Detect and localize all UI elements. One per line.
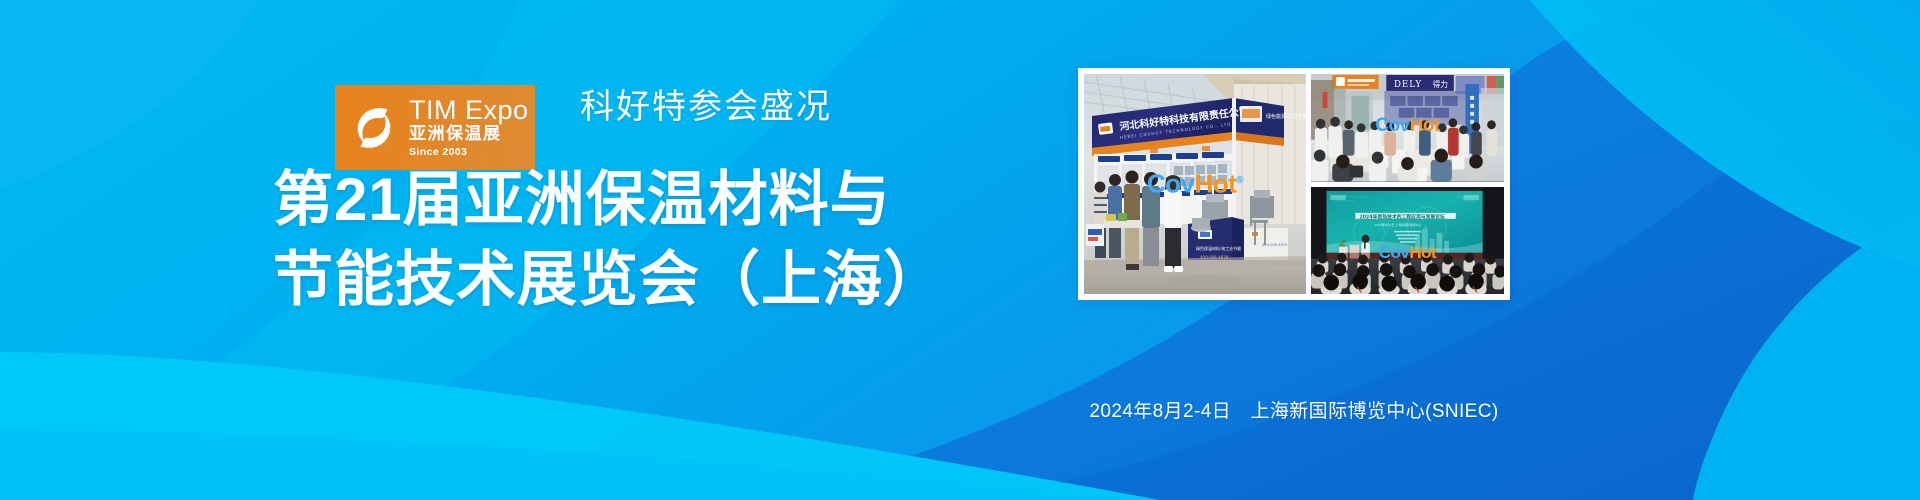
headline-line-2: 节能技术展览会（上海）: [273, 240, 1033, 320]
tim-expo-yin-yang-mark: [346, 100, 402, 156]
svg-text:DELY: DELY: [1394, 80, 1422, 90]
forum-photo: 2024年绝热技术的工程应用与发展论坛 2024年8月2日 上海新国际博览中心: [1311, 187, 1504, 295]
kicker-text: 科好特参会盛况: [580, 79, 832, 128]
photo-collage: 河北科好特科技有限责任公司 HEBEI COVHOT TECHNOLOGY CO…: [1078, 68, 1510, 300]
booth-photo: 河北科好特科技有限责任公司 HEBEI COVHOT TECHNOLOGY CO…: [1084, 74, 1306, 294]
banner-left-content: TIM Expo 亚洲保温展 Since 2003 科好特参会盛况 第21届亚洲…: [335, 0, 1035, 500]
svg-text:得力: 得力: [1433, 79, 1449, 89]
tim-expo-logo: TIM Expo 亚洲保温展 Since 2003: [335, 85, 535, 170]
logo-subtitle: 亚洲保温展: [409, 125, 529, 142]
date-venue-text: 2024年8月2-4日 上海新国际博览中心(SNIEC): [1078, 396, 1510, 423]
svg-text:2024年绝热技术的工程应用与发展论坛: 2024年绝热技术的工程应用与发展论坛: [1359, 213, 1445, 220]
headline: 第21届亚洲保温材料与 节能技术展览会（上海）: [273, 160, 1033, 320]
exhibition-banner: TIM Expo 亚洲保温展 Since 2003 科好特参会盛况 第21届亚洲…: [0, 0, 1920, 500]
svg-text:2024年8月2日 上海新国际博览中心: 2024年8月2日 上海新国际博览中心: [1375, 221, 1422, 226]
exhibition-hall-photo: DELY 得力: [1311, 74, 1504, 182]
svg-text:绿色能源·工匠节能: 绿色能源·工匠节能: [1266, 113, 1306, 120]
logo-title: TIM Expo: [409, 97, 529, 124]
headline-line-1: 第21届亚洲保温材料与: [273, 160, 1033, 240]
svg-text:绿色保温材料·筑工业节能: 绿色保温材料·筑工业节能: [1196, 245, 1241, 251]
logo-since-year: Since 2003: [409, 147, 529, 158]
